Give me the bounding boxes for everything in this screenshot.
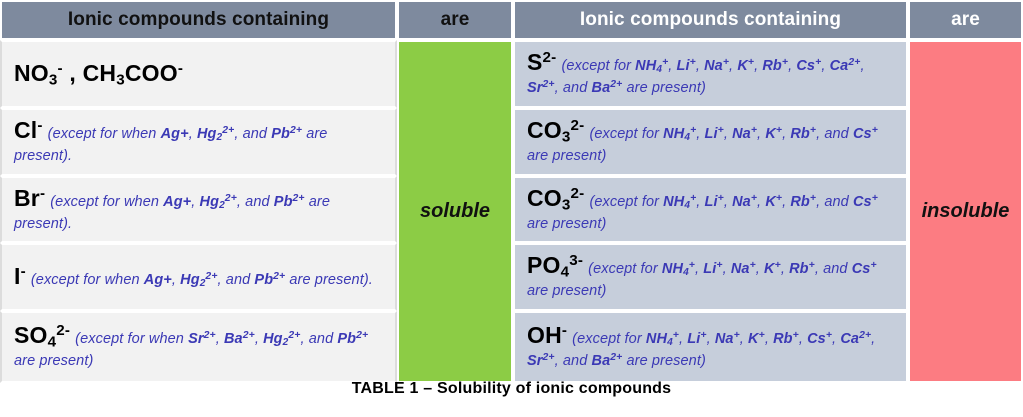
soluble-anion-cell: NO3- , CH3COO- [0,40,397,108]
anion-formula: PO43- [527,252,583,278]
soluble-anion-cell: Cl-(except for when Ag+, Hg22+, and Pb2+… [0,108,397,176]
anion-exception-note: (except for when Ag+, Hg22+, and Pb2+ ar… [31,272,373,288]
insoluble-anion-cell: OH-(except for NH4+, Li+, Na+, K+, Rb+, … [513,311,908,383]
header-insoluble-anions: Ionic compounds containing [513,0,908,40]
soluble-anion-cell: I-(except for when Ag+, Hg22+, and Pb2+ … [0,243,397,311]
insoluble-anion-cell: S2-(except for NH4+, Li+, Na+, K+, Rb+, … [513,40,908,108]
anion-formula: S2- [527,49,556,75]
anion-exception-note: (except for NH4+, Li+, Na+, K+, Rb+, Cs+… [527,331,875,369]
anion-formula: Br- [14,185,45,211]
header-soluble-verb: are [397,0,513,40]
soluble-anion-cell: SO42-(except for when Sr2+, Ba2+, Hg22+,… [0,311,397,383]
anion-formula: OH- [527,322,567,348]
header-insoluble-verb: are [908,0,1023,40]
insoluble-anion-cell: PO43-(except for NH4+, Li+, Na+, K+, Rb+… [513,243,908,311]
insoluble-anion-cell: CO32-(except for NH4+, Li+, Na+, K+, Rb+… [513,176,908,244]
solubility-table-page: Ionic compounds containing are Ionic com… [0,0,1023,417]
anion-exception-note: (except for when Ag+, Hg22+, and Pb2+ ar… [14,126,327,164]
table-body: NO3- , CH3COO- soluble S2-(except for NH… [0,40,1023,383]
table-header-row-group: Ionic compounds containing are Ionic com… [0,0,1023,40]
table-row: NO3- , CH3COO- soluble S2-(except for NH… [0,40,1023,108]
anion-formula: SO42- [14,322,70,348]
insoluble-anion-cell: CO32-(except for NH4+, Li+, Na+, K+, Rb+… [513,108,908,176]
anion-formula: Cl- [14,117,43,143]
anion-exception-note: (except for when Ag+, Hg22+, and Pb2+ ar… [14,194,330,232]
anion-formula: CO32- [527,185,584,211]
insoluble-verdict-cell: insoluble [908,40,1023,383]
solubility-table: Ionic compounds containing are Ionic com… [0,0,1023,383]
anion-formula: CO32- [527,117,584,143]
table-caption: TABLE 1 – Solubility of ionic compounds [0,380,1023,398]
anion-formula: I- [14,263,26,289]
header-soluble-anions: Ionic compounds containing [0,0,397,40]
anion-formula: NO3- , CH3COO- [14,60,183,86]
soluble-anion-cell: Br-(except for when Ag+, Hg22+, and Pb2+… [0,176,397,244]
soluble-verdict-cell: soluble [397,40,513,383]
anion-exception-note: (except for NH4+, Li+, Na+, K+, Rb+, Cs+… [527,58,865,96]
table-header-row: Ionic compounds containing are Ionic com… [0,0,1023,40]
